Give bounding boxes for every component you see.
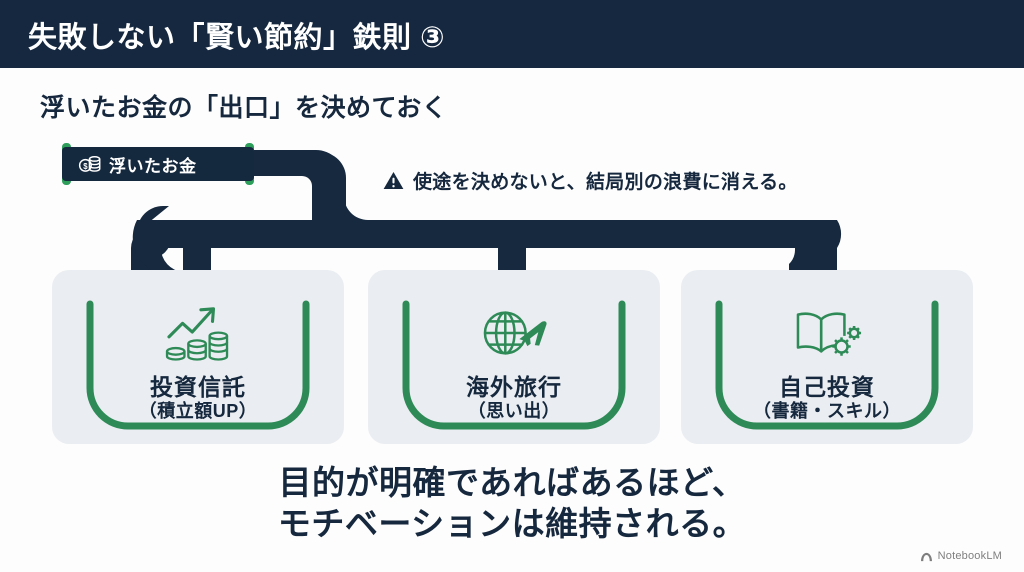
section-subtitle: 浮いたお金の「出口」を決めておく [40,88,447,124]
globe-airplane-icon [477,303,551,363]
card-subtitle: （思い出） [368,397,660,423]
destination-card-travel: 海外旅行 （思い出） [368,270,660,444]
svg-text:$: $ [83,162,88,171]
warning-note: 使途を決めないと、結局別の浪費に消える。 [383,167,798,194]
source-pill-label: 浮いたお金 [109,152,197,177]
source-pill: $ 浮いたお金 [62,147,254,181]
book-gears-icon [790,303,864,363]
coin-growth-chart-icon [161,303,235,363]
coin-stack-icon: $ [78,153,102,175]
card-subtitle: （書籍・スキル） [681,397,973,423]
conclusion-message: 目的が明確であればあるほど、 モチベーションは維持される。 [0,462,1024,544]
footer-watermark: NotebookLM [920,550,1002,562]
page-title: 失敗しない「賢い節約」鉄則 ③ [28,14,445,56]
conclusion-line-1: 目的が明確であればあるほど、 [0,462,1024,503]
warning-triangle-icon [383,171,404,190]
card-subtitle: （積立額UP） [52,397,344,423]
footer-watermark-label: NotebookLM [938,550,1002,562]
destination-card-self-investment: 自己投資 （書籍・スキル） [681,270,973,444]
notebooklm-logo-icon [920,551,933,562]
warning-text: 使途を決めないと、結局別の浪費に消える。 [413,167,798,194]
destination-card-investment: 投資信託 （積立額UP） [52,270,344,444]
conclusion-line-2: モチベーションは維持される。 [0,503,1024,544]
